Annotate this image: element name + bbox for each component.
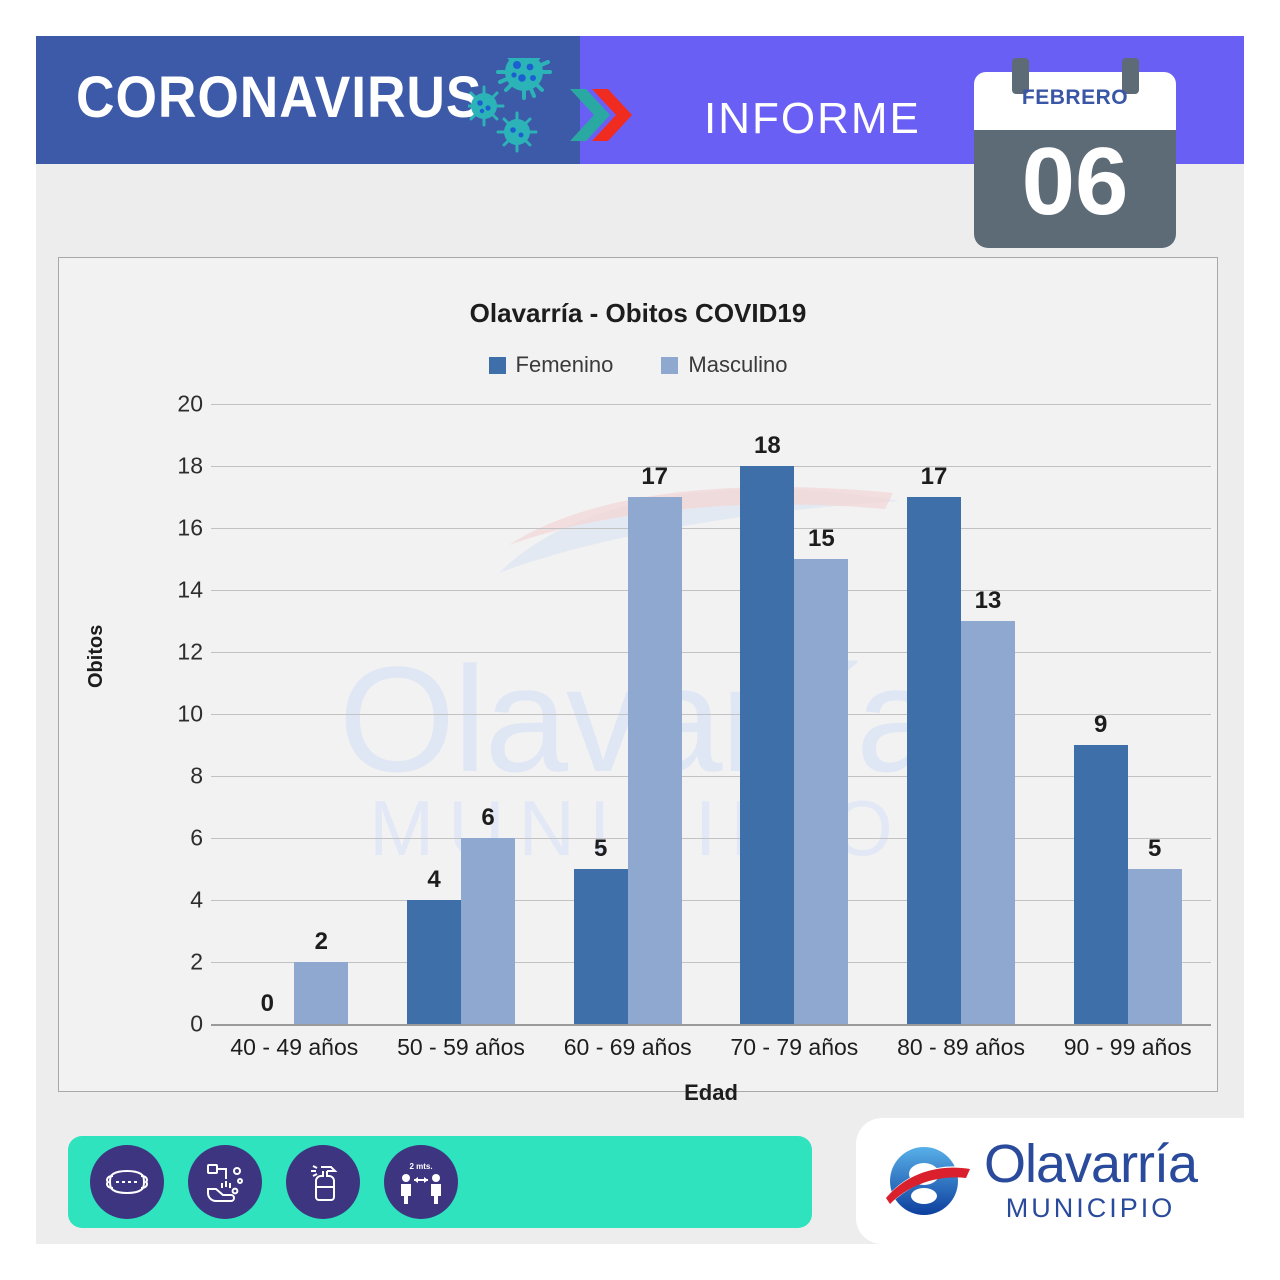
bar-value-label: 9: [1074, 711, 1128, 739]
bar-value-label: 5: [574, 835, 628, 863]
y-axis-tick: 6: [133, 825, 203, 852]
bar[interactable]: [407, 900, 461, 1024]
bar-value-label: 5: [1128, 835, 1182, 863]
sanitizer-spray-icon: [286, 1145, 360, 1219]
bar[interactable]: [628, 497, 682, 1024]
olavarria-logo: Olavarría MUNICIPIO: [856, 1118, 1244, 1244]
bar-value-label: 18: [740, 432, 794, 460]
legend-item-femenino: Femenino: [489, 352, 614, 378]
bar[interactable]: [461, 838, 515, 1024]
bar-group: 517: [544, 404, 711, 1024]
bar-group: 46: [378, 404, 545, 1024]
logo-subtitle: MUNICIPIO: [984, 1193, 1197, 1224]
y-axis-tick: 14: [133, 577, 203, 604]
chevron-double-icon: [564, 84, 644, 146]
social-distance-icon: 2 mts.: [384, 1145, 458, 1219]
bar[interactable]: [1128, 869, 1182, 1024]
logo-text: Olavarría MUNICIPIO: [984, 1138, 1197, 1224]
chart-legend: Femenino Masculino: [59, 352, 1217, 378]
bar[interactable]: [961, 621, 1015, 1024]
prevention-bar: 2 mts.: [68, 1136, 812, 1228]
bar-slot: 17: [628, 404, 682, 1024]
face-mask-icon: [90, 1145, 164, 1219]
calendar-widget: FEBRERO 06: [974, 58, 1176, 250]
y-axis-tick: 18: [133, 453, 203, 480]
bar-slot: 5: [1128, 404, 1182, 1024]
x-axis-line: [211, 1024, 1211, 1026]
hand-washing-icon: [188, 1145, 262, 1219]
y-axis-tick: 10: [133, 701, 203, 728]
bar-slot: 17: [907, 404, 961, 1024]
bar-slot: 0: [240, 404, 294, 1024]
bar-value-label: 2: [294, 928, 348, 956]
x-axis-tick: 80 - 89 años: [878, 1034, 1045, 1061]
bar[interactable]: [907, 497, 961, 1024]
bar-value-label: 15: [794, 525, 848, 553]
y-axis-tick: 2: [133, 949, 203, 976]
bar-group: 1713: [878, 404, 1045, 1024]
bar-group: 1815: [711, 404, 878, 1024]
y-axis-tick: 4: [133, 887, 203, 914]
bar-slot: 5: [574, 404, 628, 1024]
bar[interactable]: [740, 466, 794, 1024]
chart-title: Olavarría - Obitos COVID19: [59, 298, 1217, 329]
page-title: CORONAVIRUS: [76, 64, 482, 131]
legend-label-femenino: Femenino: [516, 352, 614, 378]
x-axis-tick: 40 - 49 años: [211, 1034, 378, 1061]
svg-text:2 mts.: 2 mts.: [409, 1162, 432, 1171]
y-axis-title: Obitos: [85, 625, 108, 688]
y-axis-tick: 16: [133, 515, 203, 542]
x-axis-labels: 40 - 49 años50 - 59 años60 - 69 años70 -…: [211, 1034, 1211, 1061]
legend-label-masculino: Masculino: [688, 352, 787, 378]
bar-value-label: 4: [407, 866, 461, 894]
bar-slot: 2: [294, 404, 348, 1024]
legend-swatch-masculino: [661, 357, 678, 374]
bar[interactable]: [1074, 745, 1128, 1024]
olavarria-logo-mark-icon: [882, 1138, 974, 1224]
plot-area: 02468101214161820 02465171815171395: [211, 404, 1211, 1024]
y-axis-tick: 8: [133, 763, 203, 790]
bar-group: 95: [1044, 404, 1211, 1024]
bar-slot: 13: [961, 404, 1015, 1024]
bar-slot: 18: [740, 404, 794, 1024]
bar[interactable]: [294, 962, 348, 1024]
bar-slot: 9: [1074, 404, 1128, 1024]
calendar-month: FEBRERO: [974, 86, 1176, 110]
report-label: INFORME: [704, 94, 921, 144]
bar-groups: 02465171815171395: [211, 404, 1211, 1024]
x-axis-title: Edad: [211, 1080, 1211, 1106]
bar-value-label: 13: [961, 587, 1015, 615]
y-axis-tick: 20: [133, 391, 203, 418]
report-page: CORONAVIRUS: [36, 36, 1244, 1244]
legend-item-masculino: Masculino: [661, 352, 787, 378]
bar[interactable]: [794, 559, 848, 1024]
x-axis-tick: 50 - 59 años: [378, 1034, 545, 1061]
header-banner: CORONAVIRUS: [36, 36, 1244, 164]
bar-slot: 6: [461, 404, 515, 1024]
x-axis-tick: 70 - 79 años: [711, 1034, 878, 1061]
logo-name: Olavarría: [984, 1138, 1197, 1191]
x-axis-tick: 60 - 69 años: [544, 1034, 711, 1061]
legend-swatch-femenino: [489, 357, 506, 374]
bar-value-label: 0: [240, 990, 294, 1018]
bar-group: 02: [211, 404, 378, 1024]
bar-value-label: 6: [461, 804, 515, 832]
bar-slot: 15: [794, 404, 848, 1024]
bar[interactable]: [574, 869, 628, 1024]
virus-cluster-icon: [468, 58, 568, 154]
y-axis-tick: 12: [133, 639, 203, 666]
calendar-day: 06: [974, 134, 1176, 230]
bar-value-label: 17: [628, 463, 682, 491]
bar-value-label: 17: [907, 463, 961, 491]
chart-panel: Olavarría MUNICIPIO Olavarría - Obitos C…: [58, 257, 1218, 1092]
x-axis-tick: 90 - 99 años: [1044, 1034, 1211, 1061]
y-axis-tick: 0: [133, 1011, 203, 1038]
bar-slot: 4: [407, 404, 461, 1024]
